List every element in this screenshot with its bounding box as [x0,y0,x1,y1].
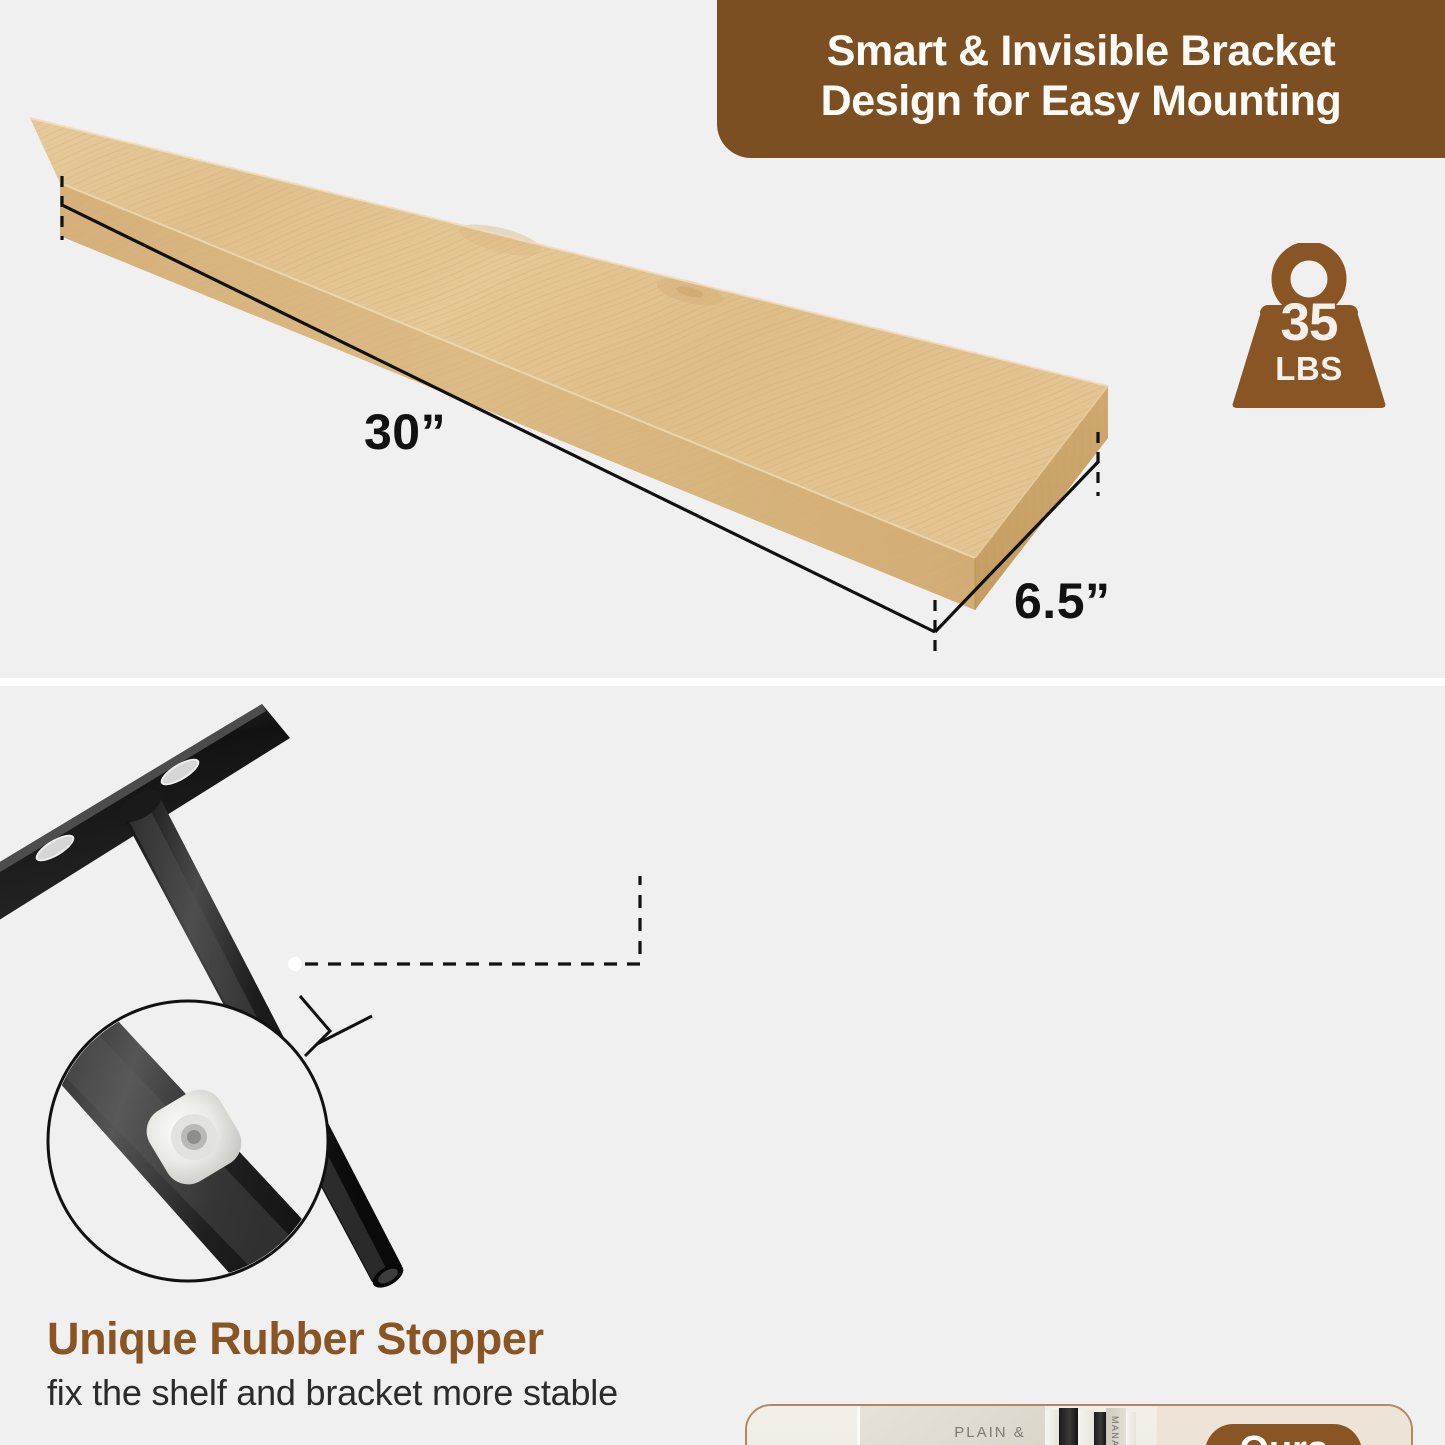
ours-spine-white-1 [1045,1410,1059,1445]
ours-book-title-line-1: PLAIN & [938,1424,1042,1442]
weight-capacity-badge: 35 LBS [1230,243,1388,408]
bracket-illustration [0,686,720,1306]
ours-spine-black: NO REST FOR THE WEARY [1059,1408,1078,1445]
stopper-subtitle: fix the shelf and bracket more stable [47,1372,618,1414]
ours-text-panel: Ours DEEPER & THICKER Create more storag… [1157,1406,1411,1445]
header-title-line-1: Smart & Invisible Bracket [827,27,1336,77]
length-dimension-label: 30” [364,403,446,461]
header-banner: Smart & Invisible Bracket Design for Eas… [717,0,1445,158]
ours-spine-grey-label: MANAGEMENT PLAIN & SIMPLE [1110,1416,1120,1445]
ours-book-cover: PLAIN & SIMPLE KIM BRENNEMAN [857,1406,1045,1445]
product-dimensions-section: Smart & Invisible Bracket Design for Eas… [0,0,1445,678]
ours-spine-grey: MANAGEMENT PLAIN & SIMPLE [1106,1408,1126,1445]
weight-value: 35 [1230,296,1388,349]
depth-dimension-label: 6.5” [1014,572,1111,630]
ours-spine-black-2 [1094,1412,1106,1445]
ours-photo: PLAIN & SIMPLE KIM BRENNEMAN NO REST FOR… [747,1406,1157,1445]
ours-spine-white-3 [1126,1412,1136,1445]
header-title-line-2: Design for Easy Mounting [821,77,1342,127]
bracket-svg [0,686,720,1306]
comparison-panel-ours: PLAIN & SIMPLE KIM BRENNEMAN NO REST FOR… [745,1404,1413,1445]
ours-badge: Ours [1205,1424,1362,1445]
ours-spine-white-2 [1078,1410,1094,1445]
stopper-title: Unique Rubber Stopper [47,1313,544,1365]
weight-unit: LBS [1230,352,1388,385]
